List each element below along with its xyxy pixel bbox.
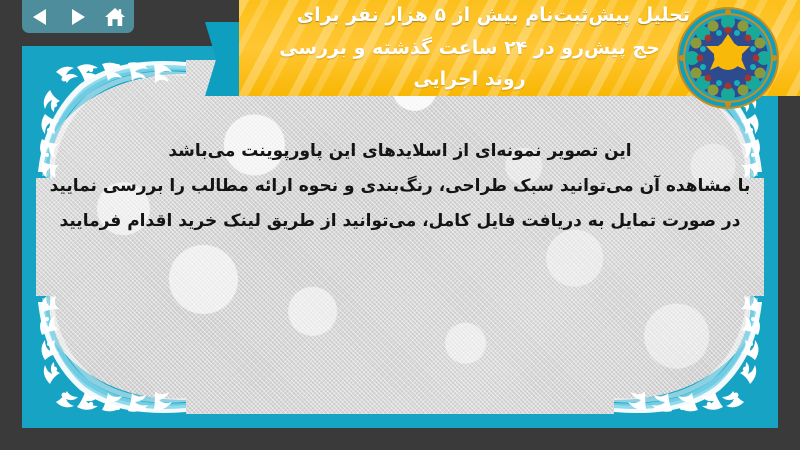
slide-stage: تحلیل پیش‌ثبت‌نام بیش از ۵ هزار نفر برای… (0, 0, 800, 450)
previous-arrow-icon (32, 8, 49, 26)
slide-title-line-2: حج پیش‌رو در ۲۴ ساعت گذشته و بررسی (279, 33, 660, 64)
body-line-3: در صورت تمایل به دریافت فایل کامل، می‌تو… (46, 204, 754, 239)
slide-title-line-3: روند اجرایی (413, 64, 525, 95)
slide-navigation-bar (22, 0, 134, 33)
home-icon (104, 7, 126, 27)
body-line-1: این تصویر نمونه‌ای از اسلایدهای این پاور… (46, 134, 754, 169)
next-arrow-icon (69, 8, 86, 26)
home-button[interactable] (101, 4, 129, 30)
next-slide-button[interactable] (64, 4, 92, 30)
previous-slide-button[interactable] (27, 4, 55, 30)
slide-title-banner: تحلیل پیش‌ثبت‌نام بیش از ۵ هزار نفر برای… (205, 0, 800, 96)
body-line-2: با مشاهده آن می‌توانید سبک طراحی، رنگ‌بن… (46, 169, 754, 204)
persian-medallion-icon (676, 6, 780, 110)
slide-body-text: این تصویر نمونه‌ای از اسلایدهای این پاور… (46, 134, 754, 239)
slide-title-line-1: تحلیل پیش‌ثبت‌نام بیش از ۵ هزار نفر برای (297, 2, 690, 29)
